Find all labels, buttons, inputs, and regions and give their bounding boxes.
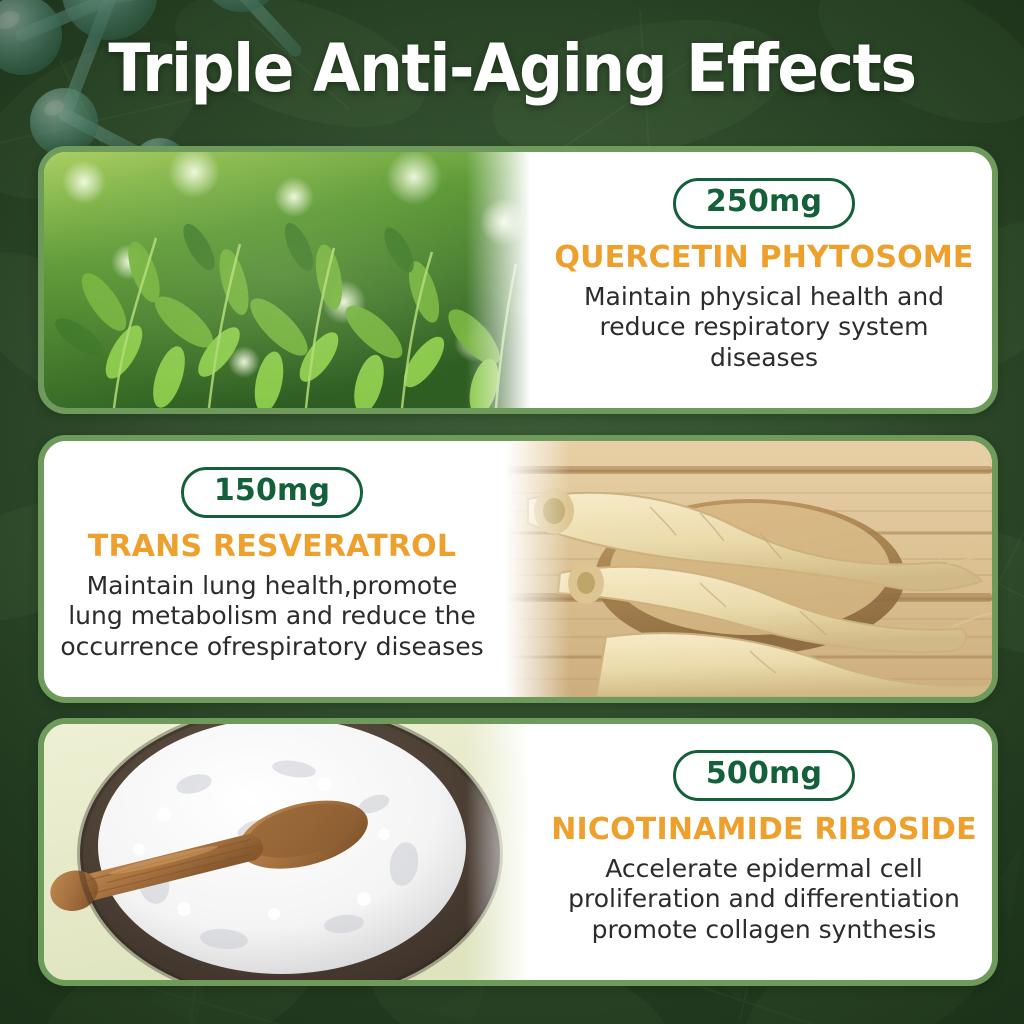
ingredient-description: Maintain lung health,promote lung metabo… [58,571,486,663]
card-text-panel: 500mg NICOTINAMIDE RIBOSIDE Accelerate e… [536,724,992,980]
white-powder-bowl-wooden-spoon-photo [44,724,536,980]
ingredient-card: 250mg QUERCETIN PHYTOSOME Maintain physi… [38,146,998,414]
green-leafy-plant-photo [44,152,536,408]
ingredient-card: 500mg NICOTINAMIDE RIBOSIDE Accelerate e… [38,718,998,986]
ingredient-description: Accelerate epidermal cell proliferation … [550,854,978,946]
dose-badge: 150mg [181,467,363,518]
dose-badge: 500mg [673,750,855,801]
ingredient-card: 150mg TRANS RESVERATROL Maintain lung he… [38,435,998,703]
poster-root: Triple Anti-Aging Effects [0,0,1024,1024]
dose-badge: 250mg [673,178,855,229]
card-text-panel: 150mg TRANS RESVERATROL Maintain lung he… [44,441,500,697]
ingredient-description: Maintain physical health and reduce resp… [550,282,978,374]
ingredient-name: NICOTINAMIDE RIBOSIDE [551,813,977,846]
page-title: Triple Anti-Aging Effects [36,36,988,102]
ingredient-name: TRANS RESVERATROL [88,530,456,563]
card-text-panel: 250mg QUERCETIN PHYTOSOME Maintain physi… [536,152,992,408]
parsnip-roots-on-wood-photo [500,441,992,697]
ingredient-name: QUERCETIN PHYTOSOME [554,241,973,274]
